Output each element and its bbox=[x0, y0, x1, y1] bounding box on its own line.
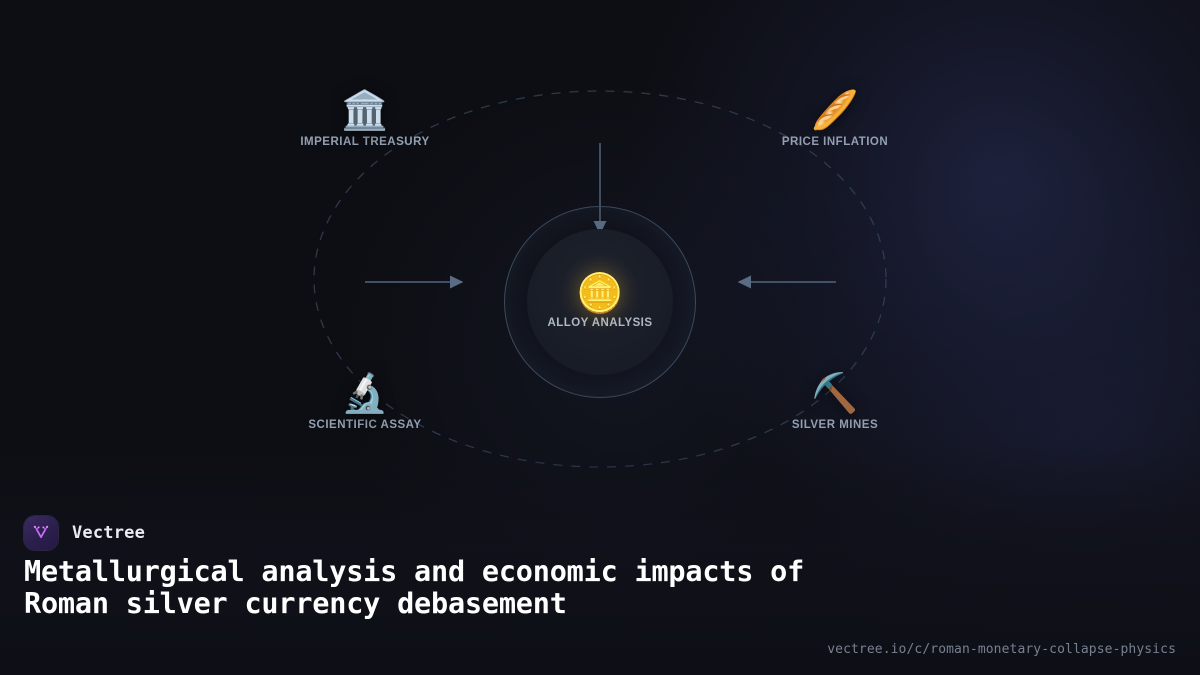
node-label-imperial-treasury: IMPERIAL TREASURY bbox=[300, 136, 429, 148]
footer: Vectree Metallurgical analysis and econo… bbox=[0, 490, 1200, 675]
hub-label: ALLOY ANALYSIS bbox=[548, 317, 653, 329]
node-scientific-assay[interactable]: 🔬 SCIENTIFIC ASSAY bbox=[265, 375, 465, 431]
node-label-silver-mines: SILVER MINES bbox=[792, 419, 878, 431]
pick-icon: ⛏️ bbox=[811, 375, 858, 415]
vectree-logo-icon bbox=[24, 516, 58, 550]
hub-node[interactable]: 🪙 ALLOY ANALYSIS bbox=[504, 206, 696, 398]
node-imperial-treasury[interactable]: 🏛️ IMPERIAL TREASURY bbox=[265, 92, 465, 148]
hub-content: 🪙 ALLOY ANALYSIS bbox=[504, 206, 696, 398]
classical-building-coin-icon: 🪙 bbox=[576, 275, 623, 313]
node-label-price-inflation: PRICE INFLATION bbox=[782, 136, 888, 148]
node-price-inflation[interactable]: 🥖 PRICE INFLATION bbox=[735, 92, 935, 148]
page-url: vectree.io/c/roman-monetary-collapse-phy… bbox=[827, 642, 1176, 657]
classical-building-icon: 🏛️ bbox=[341, 92, 388, 132]
brand-name: Vectree bbox=[72, 523, 145, 543]
microscope-icon: 🔬 bbox=[341, 375, 388, 415]
page-title: Metallurgical analysis and economic impa… bbox=[24, 556, 814, 620]
baguette-bread-icon: 🥖 bbox=[811, 92, 858, 132]
vectree-logo-glyph bbox=[31, 523, 51, 543]
diagram-canvas: 🪙 ALLOY ANALYSIS 🏛️ IMPERIAL TREASURY 🥖 … bbox=[0, 0, 1200, 500]
node-label-scientific-assay: SCIENTIFIC ASSAY bbox=[308, 419, 421, 431]
brand[interactable]: Vectree bbox=[24, 516, 145, 550]
node-silver-mines[interactable]: ⛏️ SILVER MINES bbox=[735, 375, 935, 431]
